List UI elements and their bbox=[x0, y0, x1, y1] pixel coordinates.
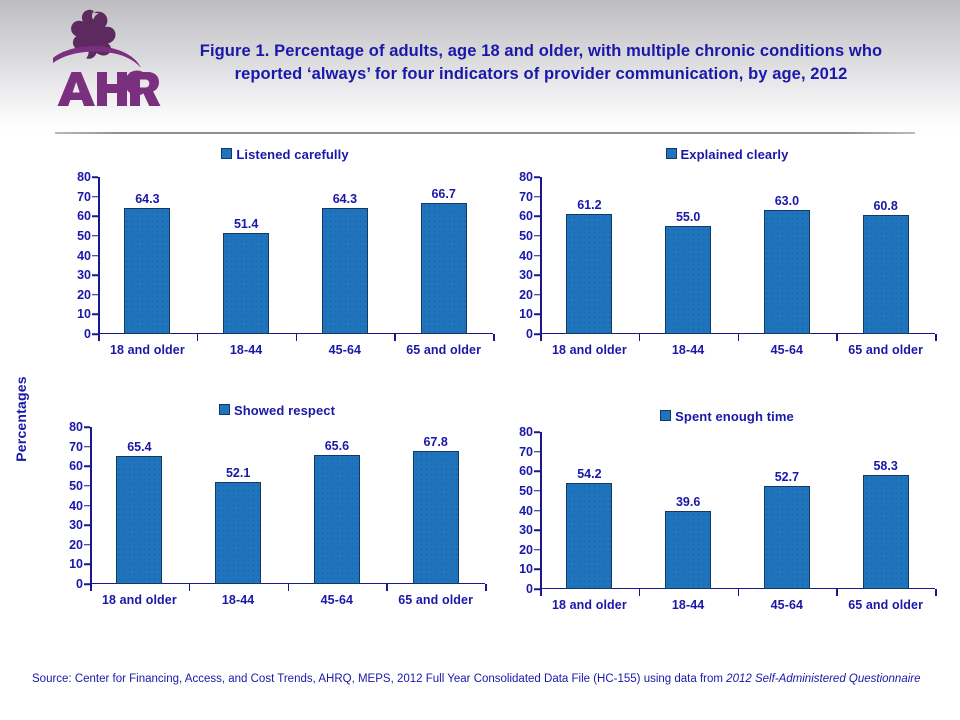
x-tick-label: 45-64 bbox=[288, 593, 387, 607]
bar-value-label: 52.7 bbox=[775, 470, 799, 484]
legend-swatch-icon bbox=[221, 148, 232, 159]
y-tick-label: 20 bbox=[519, 543, 540, 557]
header-divider bbox=[55, 132, 915, 134]
bar[interactable]: 55.0 bbox=[665, 226, 711, 334]
bar-value-label: 52.1 bbox=[226, 466, 250, 480]
y-tick-label: 30 bbox=[519, 523, 540, 537]
bar-cell: 39.6 bbox=[639, 432, 738, 589]
y-tick-label: 80 bbox=[77, 170, 98, 184]
bar-cell: 65.6 bbox=[288, 427, 387, 584]
ahrq-wordmark bbox=[53, 46, 161, 106]
bar[interactable]: 52.1 bbox=[215, 482, 261, 584]
y-tick-label: 0 bbox=[526, 582, 540, 596]
bar-cell: 58.3 bbox=[836, 432, 935, 589]
bar-value-label: 60.8 bbox=[873, 199, 897, 213]
y-tick-label: 20 bbox=[69, 538, 90, 552]
bar-value-label: 64.3 bbox=[135, 192, 159, 206]
bar-value-label: 58.3 bbox=[873, 459, 897, 473]
y-tick-label: 60 bbox=[519, 209, 540, 223]
chart-legend: Listened carefully bbox=[70, 146, 500, 164]
bar-value-label: 61.2 bbox=[577, 198, 601, 212]
x-tick-label: 18 and older bbox=[90, 593, 189, 607]
x-axis-ticks bbox=[540, 334, 935, 341]
y-tick-label: 10 bbox=[519, 307, 540, 321]
x-tick-label: 65 and older bbox=[394, 343, 493, 357]
bar-cell: 63.0 bbox=[738, 177, 837, 334]
x-axis-ticks bbox=[98, 334, 493, 341]
bar-cell: 64.3 bbox=[98, 177, 197, 334]
legend-label: Listened carefully bbox=[236, 147, 348, 162]
y-tick-label: 80 bbox=[519, 425, 540, 439]
y-tick-label: 40 bbox=[77, 249, 98, 263]
legend-label: Explained clearly bbox=[681, 147, 789, 162]
y-tick-label: 50 bbox=[69, 479, 90, 493]
bar-value-label: 65.6 bbox=[325, 439, 349, 453]
x-axis-labels: 18 and older 18-44 45-64 65 and older bbox=[540, 343, 935, 357]
bar[interactable]: 67.8 bbox=[413, 451, 459, 584]
bar[interactable]: 60.8 bbox=[863, 215, 909, 334]
y-tick-label: 20 bbox=[77, 288, 98, 302]
bar-cell: 55.0 bbox=[639, 177, 738, 334]
bar-cell: 67.8 bbox=[386, 427, 485, 584]
bar-series: 65.4 52.1 65.6 67.8 bbox=[90, 427, 485, 584]
page-title: Figure 1. Percentage of adults, age 18 a… bbox=[185, 40, 897, 86]
bar[interactable]: 51.4 bbox=[223, 233, 269, 334]
bar-cell: 65.4 bbox=[90, 427, 189, 584]
bar-value-label: 67.8 bbox=[423, 435, 447, 449]
bar-cell: 52.1 bbox=[189, 427, 288, 584]
bar[interactable]: 63.0 bbox=[764, 210, 810, 334]
y-tick-label: 60 bbox=[69, 459, 90, 473]
y-tick-label: 50 bbox=[77, 229, 98, 243]
bar-value-label: 55.0 bbox=[676, 210, 700, 224]
x-tick-label: 45-64 bbox=[738, 343, 837, 357]
x-tick-label: 18 and older bbox=[540, 343, 639, 357]
y-tick-label: 10 bbox=[77, 307, 98, 321]
bar-cell: 61.2 bbox=[540, 177, 639, 334]
y-tick-label: 30 bbox=[519, 268, 540, 282]
x-axis-labels: 18 and older 18-44 45-64 65 and older bbox=[90, 593, 485, 607]
plot-area: 80 70 60 50 40 30 20 10 0 54.2 39.6 bbox=[540, 432, 935, 589]
y-tick-label: 20 bbox=[519, 288, 540, 302]
bar-value-label: 54.2 bbox=[577, 467, 601, 481]
chart-panel-spent-enough-time: Spent enough time 80 70 60 50 40 30 20 1… bbox=[512, 408, 942, 638]
plot-area: 80 70 60 50 40 30 20 10 0 64.3 51.4 bbox=[98, 177, 493, 334]
bar[interactable]: 64.3 bbox=[322, 208, 368, 334]
bar-cell: 64.3 bbox=[296, 177, 395, 334]
y-axis-group-label: Percentages bbox=[13, 369, 29, 469]
chart-legend: Showed respect bbox=[62, 402, 492, 420]
x-axis-ticks bbox=[90, 584, 485, 591]
x-tick-label: 65 and older bbox=[836, 343, 935, 357]
bar[interactable]: 58.3 bbox=[863, 475, 909, 589]
source-italic: 2012 Self-Administered Questionnaire bbox=[726, 673, 920, 685]
bar-cell: 52.7 bbox=[738, 432, 837, 589]
y-tick-label: 40 bbox=[69, 499, 90, 513]
y-tick-label: 70 bbox=[519, 190, 540, 204]
source-note: Source: Center for Financing, Access, an… bbox=[32, 672, 932, 687]
x-axis-labels: 18 and older 18-44 45-64 65 and older bbox=[98, 343, 493, 357]
y-tick-label: 80 bbox=[69, 420, 90, 434]
bar-cell: 54.2 bbox=[540, 432, 639, 589]
y-tick-label: 80 bbox=[519, 170, 540, 184]
y-tick-label: 70 bbox=[77, 190, 98, 204]
y-tick-label: 50 bbox=[519, 484, 540, 498]
legend-swatch-icon bbox=[660, 410, 671, 421]
bar-series: 61.2 55.0 63.0 60.8 bbox=[540, 177, 935, 334]
x-tick-label: 18 and older bbox=[98, 343, 197, 357]
bar[interactable]: 64.3 bbox=[124, 208, 170, 334]
bar-value-label: 66.7 bbox=[431, 187, 455, 201]
x-tick-label: 65 and older bbox=[386, 593, 485, 607]
y-tick-label: 70 bbox=[519, 445, 540, 459]
chart-panel-listened-carefully: Listened carefully 80 70 60 50 40 30 20 … bbox=[70, 146, 500, 376]
bar-series: 64.3 51.4 64.3 66.7 bbox=[98, 177, 493, 334]
bar-value-label: 65.4 bbox=[127, 440, 151, 454]
x-tick-label: 18-44 bbox=[189, 593, 288, 607]
y-tick-label: 70 bbox=[69, 440, 90, 454]
y-tick-label: 30 bbox=[69, 518, 90, 532]
bar[interactable]: 61.2 bbox=[566, 214, 612, 334]
y-tick-label: 10 bbox=[69, 557, 90, 571]
y-tick-label: 40 bbox=[519, 249, 540, 263]
bar-cell: 51.4 bbox=[197, 177, 296, 334]
chart-legend: Explained clearly bbox=[512, 146, 942, 164]
chart-panel-showed-respect: Showed respect 80 70 60 50 40 30 20 10 0… bbox=[62, 402, 492, 632]
x-tick-label: 65 and older bbox=[836, 598, 935, 612]
bar[interactable]: 65.6 bbox=[314, 455, 360, 584]
bar[interactable]: 66.7 bbox=[421, 203, 467, 334]
legend-label: Spent enough time bbox=[675, 409, 794, 424]
y-tick-label: 60 bbox=[519, 464, 540, 478]
source-prefix: Source: Center for Financing, Access, an… bbox=[32, 673, 726, 685]
x-tick-label: 45-64 bbox=[738, 598, 837, 612]
bar[interactable]: 39.6 bbox=[665, 511, 711, 589]
ahrq-logo bbox=[33, 6, 161, 114]
bar-cell: 66.7 bbox=[394, 177, 493, 334]
chart-legend: Spent enough time bbox=[512, 408, 942, 426]
legend-label: Showed respect bbox=[234, 403, 335, 418]
plot-area: 80 70 60 50 40 30 20 10 0 61.2 55.0 bbox=[540, 177, 935, 334]
plot-area: 80 70 60 50 40 30 20 10 0 65.4 52.1 bbox=[90, 427, 485, 584]
y-tick-label: 0 bbox=[526, 327, 540, 341]
chart-panel-explained-clearly: Explained clearly 80 70 60 50 40 30 20 1… bbox=[512, 146, 942, 376]
bar[interactable]: 52.7 bbox=[764, 486, 810, 589]
x-tick-label: 18 and older bbox=[540, 598, 639, 612]
x-axis-labels: 18 and older 18-44 45-64 65 and older bbox=[540, 598, 935, 612]
y-tick-label: 0 bbox=[84, 327, 98, 341]
bar-cell: 60.8 bbox=[836, 177, 935, 334]
x-tick-label: 18-44 bbox=[639, 598, 738, 612]
y-tick-label: 0 bbox=[76, 577, 90, 591]
bar-value-label: 39.6 bbox=[676, 495, 700, 509]
legend-swatch-icon bbox=[219, 404, 230, 415]
y-tick-label: 40 bbox=[519, 504, 540, 518]
y-tick-label: 50 bbox=[519, 229, 540, 243]
bar-value-label: 51.4 bbox=[234, 217, 258, 231]
bar[interactable]: 54.2 bbox=[566, 483, 612, 589]
y-tick-label: 10 bbox=[519, 562, 540, 576]
x-axis-ticks bbox=[540, 589, 935, 596]
bar-value-label: 64.3 bbox=[333, 192, 357, 206]
bar[interactable]: 65.4 bbox=[116, 456, 162, 584]
y-tick-label: 60 bbox=[77, 209, 98, 223]
bar-value-label: 63.0 bbox=[775, 194, 799, 208]
x-tick-label: 18-44 bbox=[197, 343, 296, 357]
x-tick-label: 45-64 bbox=[296, 343, 395, 357]
legend-swatch-icon bbox=[666, 148, 677, 159]
y-tick-label: 30 bbox=[77, 268, 98, 282]
x-tick-label: 18-44 bbox=[639, 343, 738, 357]
bar-series: 54.2 39.6 52.7 58.3 bbox=[540, 432, 935, 589]
